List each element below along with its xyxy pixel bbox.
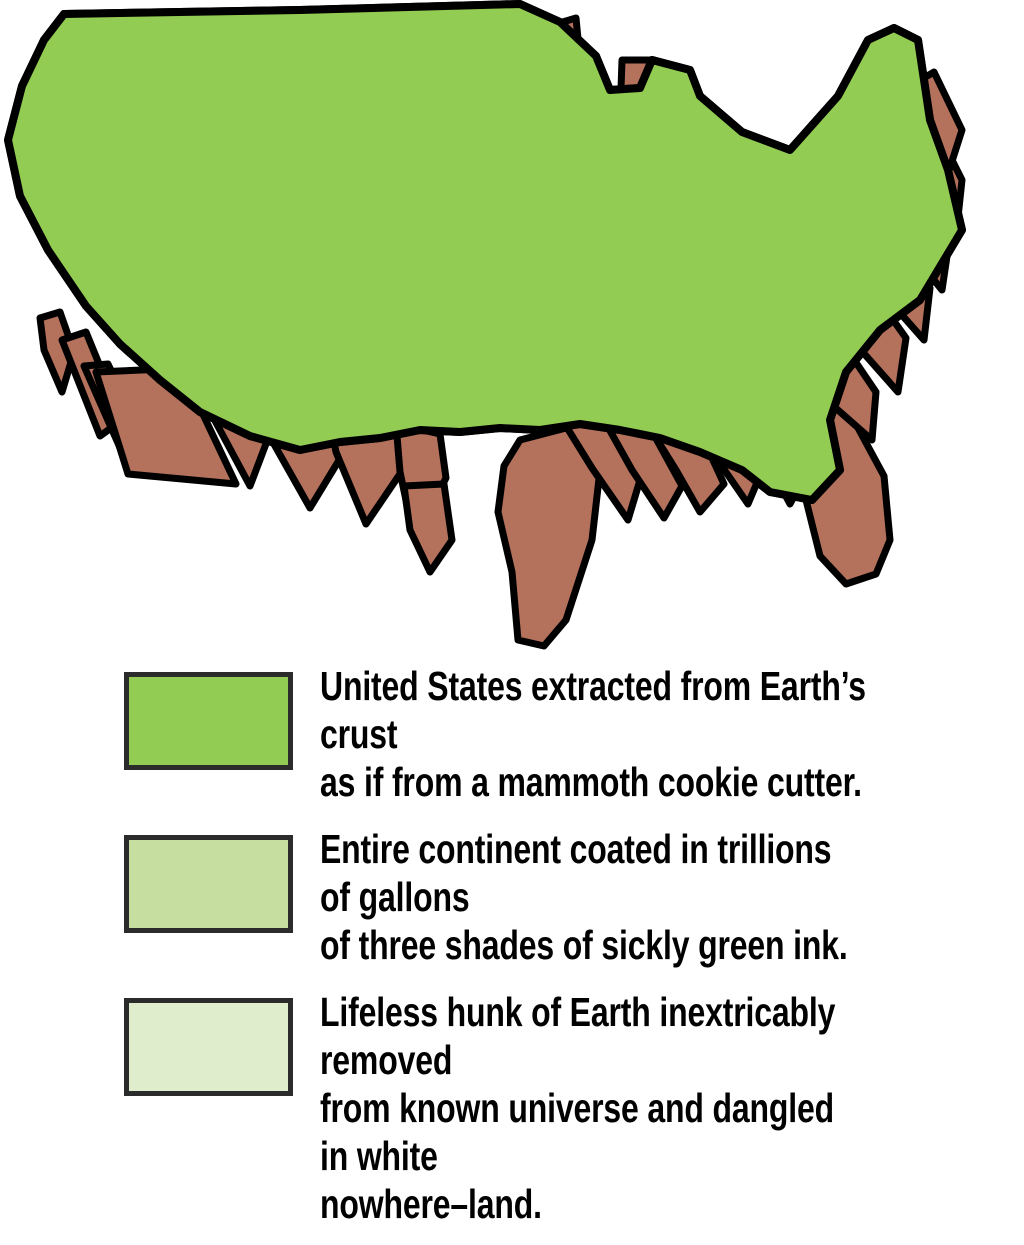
legend-item-mid-green: Entire continent coated in trillions of … [0, 823, 1024, 969]
us-map-svg [0, 0, 1024, 660]
legend-item-dark-green: United States extracted from Earth’s cru… [0, 660, 1024, 806]
legend-label-dark-green: United States extracted from Earth’s cru… [320, 660, 869, 806]
crust-segment-texas-notch [404, 484, 452, 572]
legend-label-mid-green: Entire continent coated in trillions of … [320, 823, 869, 969]
legend-swatch-wrap [0, 660, 320, 770]
legend-swatch-wrap [0, 823, 320, 933]
legend-swatch-wrap [0, 986, 320, 1096]
legend-swatch-light-green [124, 998, 293, 1096]
legend-label-light-green: Lifeless hunk of Earth inextricably remo… [320, 986, 869, 1228]
legend: United States extracted from Earth’s cru… [0, 660, 1024, 1245]
legend-swatch-dark-green [124, 672, 293, 770]
map-illustration [0, 0, 1024, 660]
legend-item-light-green: Lifeless hunk of Earth inextricably remo… [0, 986, 1024, 1228]
legend-swatch-mid-green [124, 835, 293, 933]
